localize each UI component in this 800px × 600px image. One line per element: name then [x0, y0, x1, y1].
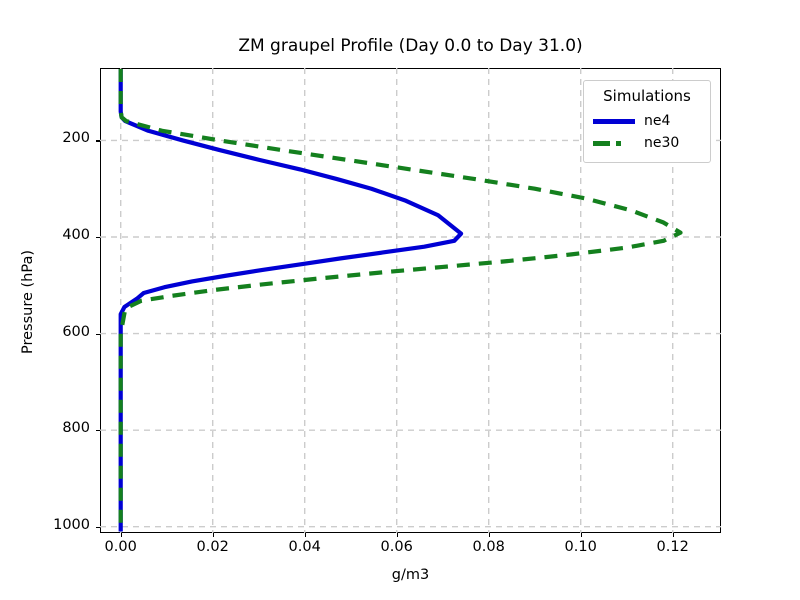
x-tick-mark: [581, 533, 582, 537]
y-tick-mark: [96, 527, 100, 528]
legend-title: Simulations: [593, 87, 701, 105]
x-tick-label: 0.06: [367, 539, 427, 555]
y-tick-label: 200: [30, 130, 90, 146]
x-tick-mark: [489, 533, 490, 537]
x-tick-mark: [121, 533, 122, 537]
y-tick-mark: [96, 237, 100, 238]
x-tick-mark: [213, 533, 214, 537]
x-tick-mark: [305, 533, 306, 537]
x-tick-mark: [397, 533, 398, 537]
x-axis-label: g/m3: [100, 567, 721, 583]
legend-label-ne4: ne4: [644, 113, 670, 129]
legend-item-ne4[interactable]: ne4: [593, 110, 701, 132]
y-tick-label: 1000: [30, 517, 90, 533]
chart-figure: ZM graupel Profile (Day 0.0 to Day 31.0)…: [0, 0, 800, 600]
y-tick-mark: [96, 430, 100, 431]
legend-entries: ne4ne30: [593, 110, 701, 154]
y-tick-label: 600: [30, 324, 90, 340]
y-tick-label: 800: [30, 420, 90, 436]
legend-item-ne30[interactable]: ne30: [593, 132, 701, 154]
legend-swatch-ne4: [593, 119, 635, 124]
legend: Simulations ne4ne30: [583, 80, 711, 163]
legend-swatch-ne30: [593, 141, 635, 146]
x-tick-label: 0.00: [91, 539, 151, 555]
y-tick-label: 400: [30, 227, 90, 243]
x-tick-label: 0.12: [643, 539, 703, 555]
y-tick-mark: [96, 140, 100, 141]
y-tick-mark: [96, 334, 100, 335]
legend-label-ne30: ne30: [644, 135, 679, 151]
x-tick-label: 0.04: [275, 539, 335, 555]
x-tick-label: 0.10: [551, 539, 611, 555]
x-tick-label: 0.02: [183, 539, 243, 555]
x-tick-label: 0.08: [459, 539, 519, 555]
x-tick-mark: [673, 533, 674, 537]
chart-title: ZM graupel Profile (Day 0.0 to Day 31.0): [100, 36, 721, 56]
